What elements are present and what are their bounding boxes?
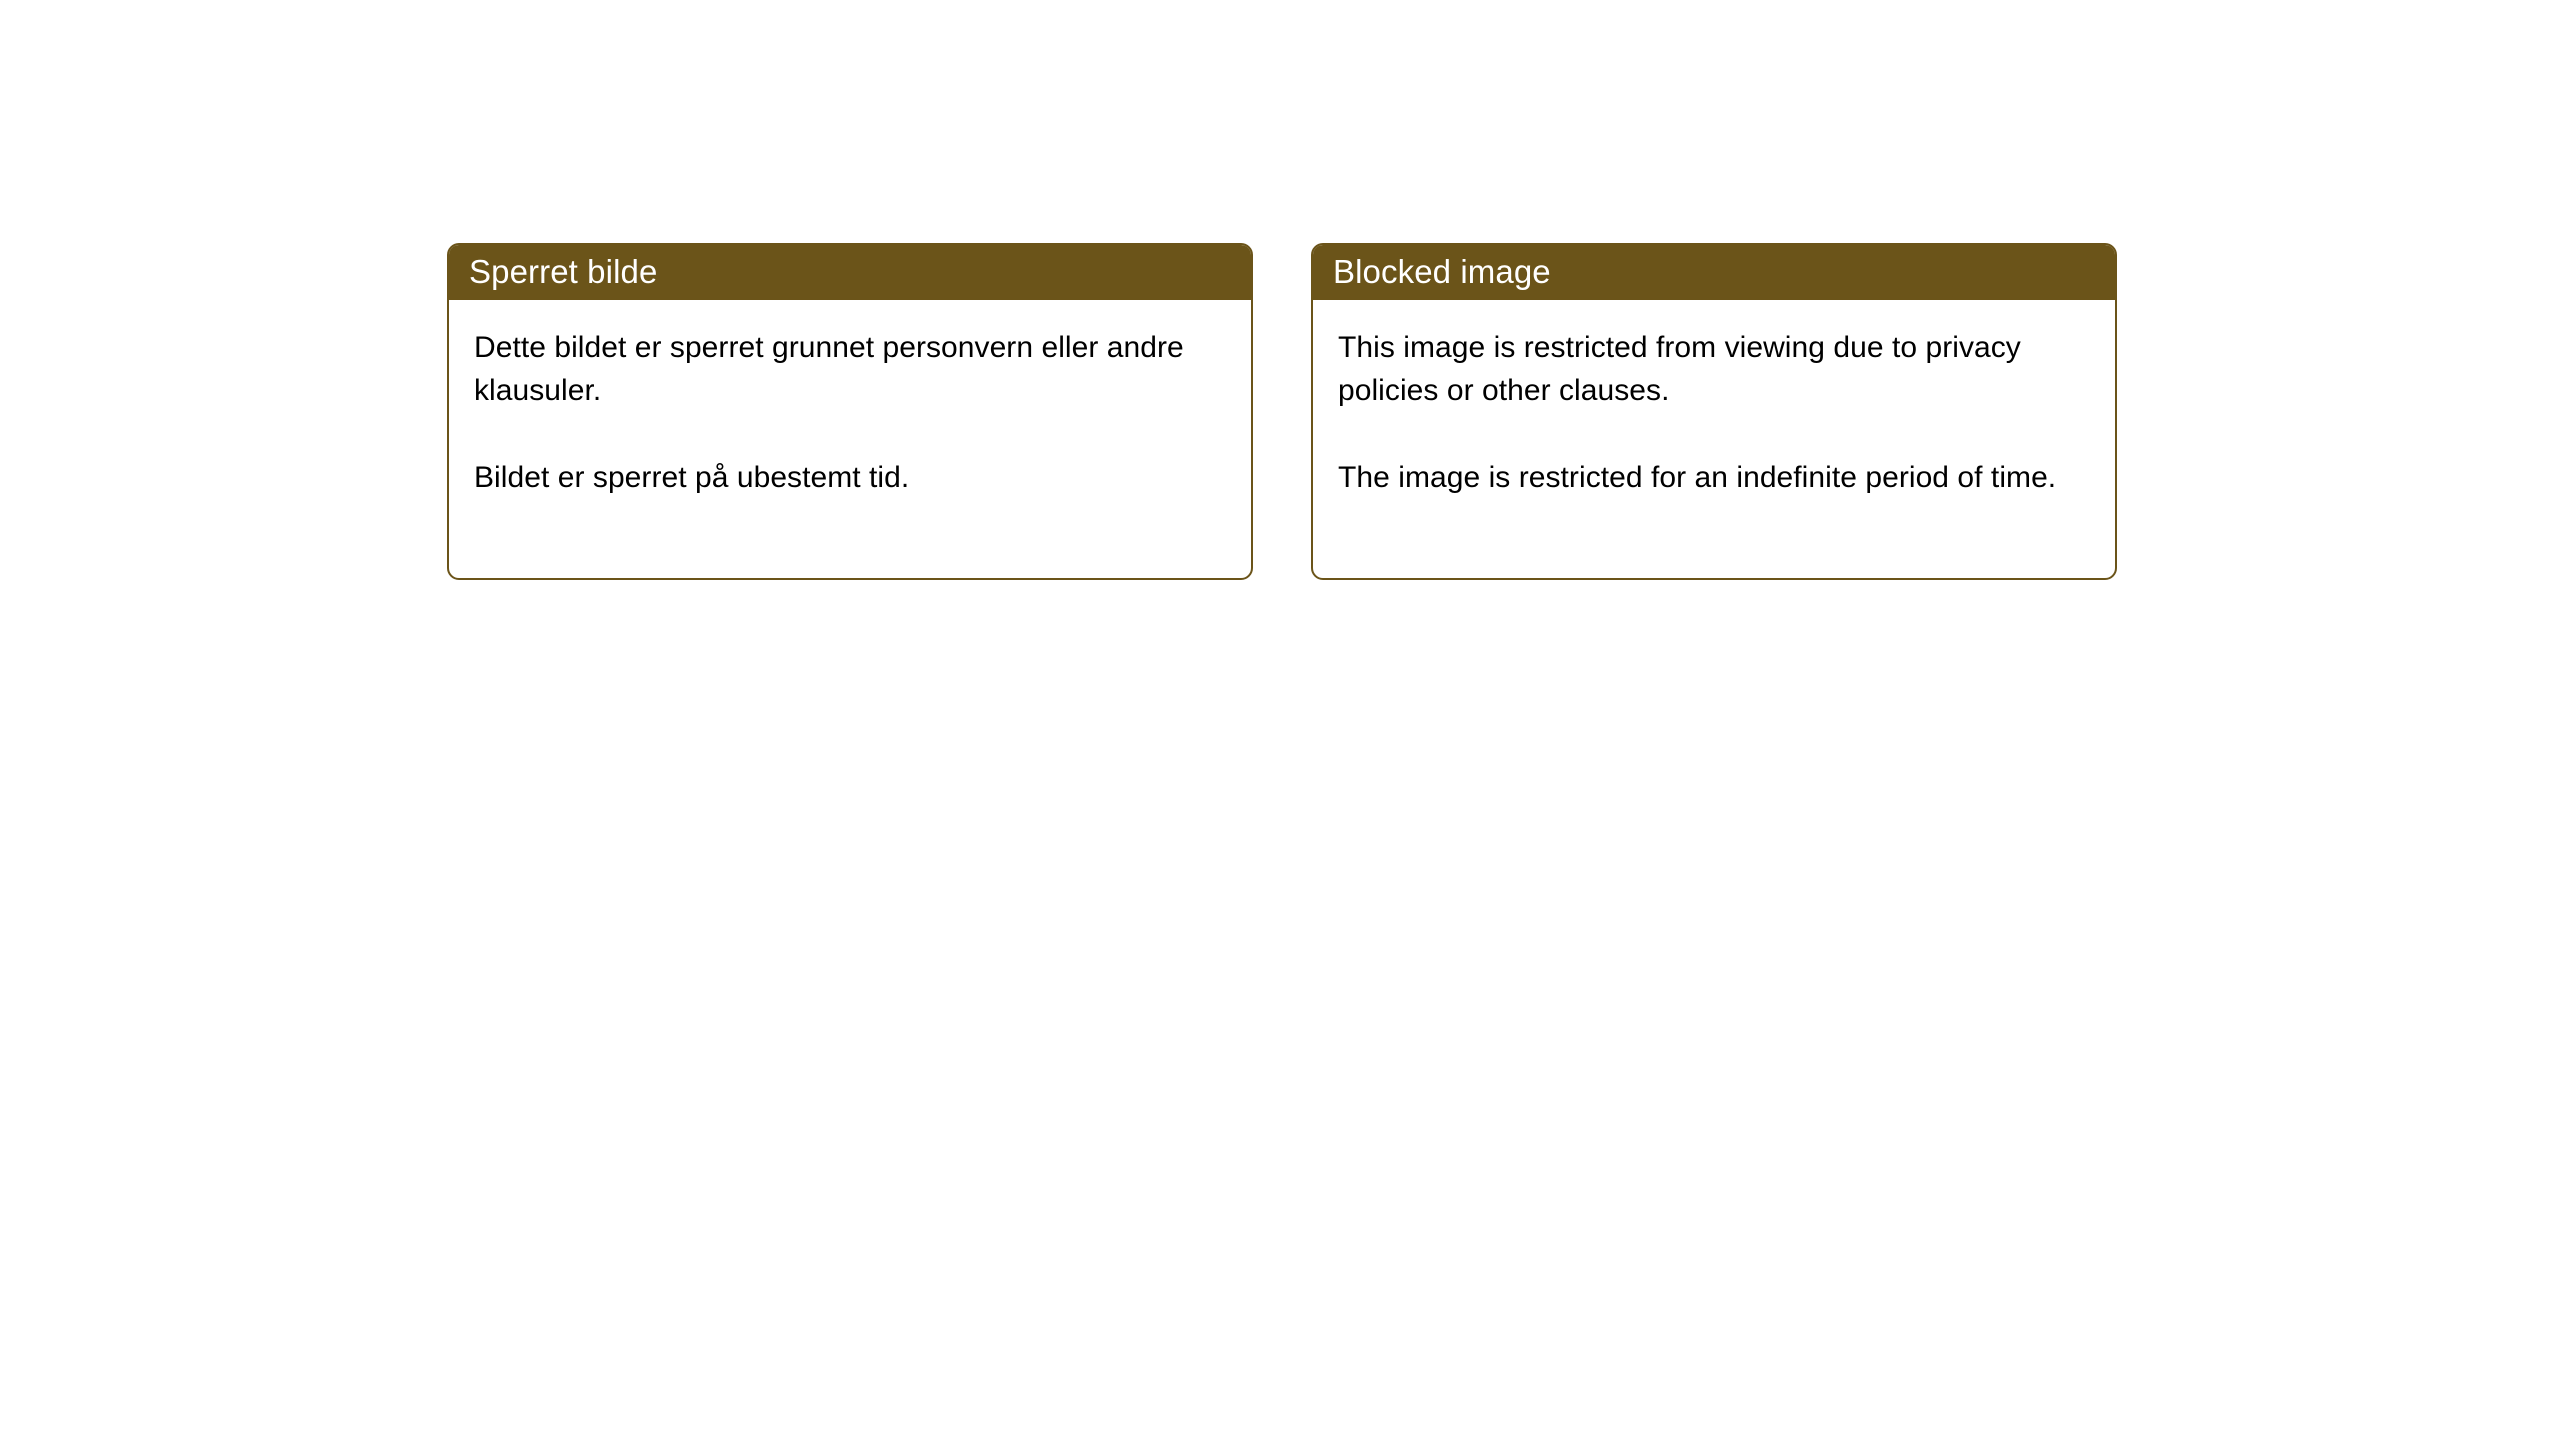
panel-paragraph-english-2: The image is restricted for an indefinit… [1338, 456, 2091, 499]
blocked-image-notice-norwegian: Sperret bilde Dette bildet er sperret gr… [447, 243, 1253, 580]
panel-header-english: Blocked image [1311, 243, 2117, 300]
panel-paragraph-norwegian-2: Bildet er sperret på ubestemt tid. [474, 456, 1227, 499]
page-canvas: Sperret bilde Dette bildet er sperret gr… [0, 0, 2560, 1440]
panel-body-english: This image is restricted from viewing du… [1313, 300, 2115, 499]
panel-header-norwegian: Sperret bilde [447, 243, 1253, 300]
panel-title-english: Blocked image [1333, 255, 1551, 288]
panel-paragraph-norwegian-1: Dette bildet er sperret grunnet personve… [474, 326, 1227, 412]
panel-body-norwegian: Dette bildet er sperret grunnet personve… [449, 300, 1251, 499]
panel-paragraph-english-1: This image is restricted from viewing du… [1338, 326, 2091, 412]
panel-title-norwegian: Sperret bilde [469, 255, 657, 288]
blocked-image-notice-english: Blocked image This image is restricted f… [1311, 243, 2117, 580]
